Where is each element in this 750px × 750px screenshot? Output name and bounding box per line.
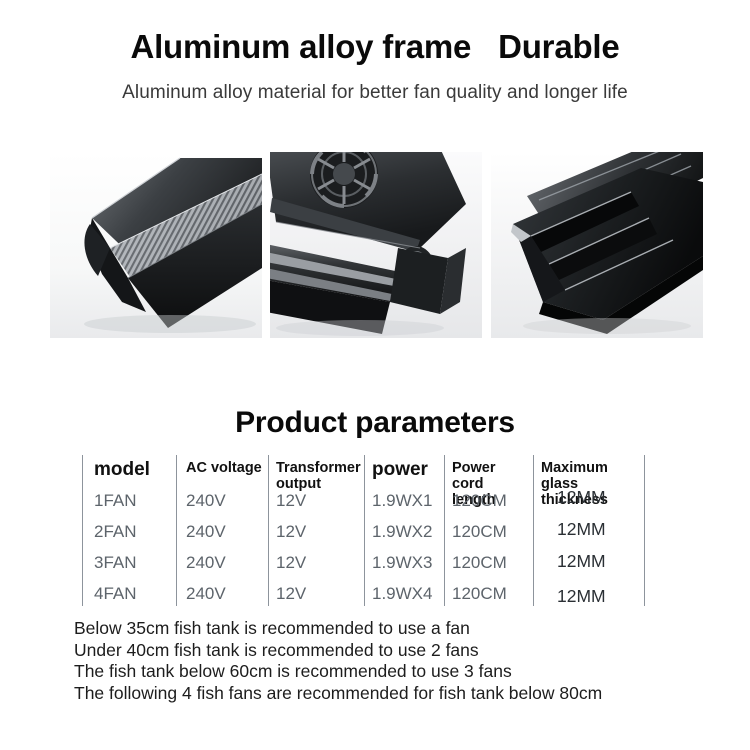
table-cell: 120CM: [452, 491, 534, 511]
table-rule: [444, 455, 445, 606]
table-cell: 120CM: [452, 553, 534, 573]
recommendation-line: Under 40cm fish tank is recommended to u…: [74, 640, 714, 662]
table-rule: [364, 455, 365, 606]
table-cell: 240V: [186, 553, 264, 573]
table-cell: 12V: [276, 522, 362, 542]
table-cell: 120CM: [452, 522, 534, 542]
product-infographic: Aluminum alloy frame Durable Aluminum al…: [0, 0, 750, 750]
table-rule: [268, 455, 269, 606]
table-cell: 240V: [186, 491, 264, 511]
table-cell: 1.9WX1: [372, 491, 444, 511]
table-cell: 120CM: [452, 584, 534, 604]
product-photo-fan-unit-on-frame: [270, 152, 482, 338]
product-photo-aluminum-profile-end: [491, 152, 703, 338]
column-header-ac-voltage: AC voltage: [186, 460, 264, 476]
table-cell: 1.9WX2: [372, 522, 444, 542]
product-photo-gallery: [50, 152, 703, 338]
table-cell: 4FAN: [94, 584, 174, 604]
table-column-ac-voltage: AC voltage 240V 240V 240V 240V: [186, 455, 264, 606]
table-column-power-cord-length: Power cord length 120CM 120CM 120CM 120C…: [452, 455, 534, 606]
table-cell: 12V: [276, 553, 362, 573]
table-cell: 12MM: [557, 519, 645, 540]
table-cell: 3FAN: [94, 553, 174, 573]
table-column-power: power 1.9WX1 1.9WX2 1.9WX3 1.9WX4: [372, 455, 444, 606]
table-cell: 12V: [276, 584, 362, 604]
page-title: Aluminum alloy frame Durable: [0, 28, 750, 66]
table-column-model: model 1FAN 2FAN 3FAN 4FAN: [94, 455, 174, 606]
table-cell: 240V: [186, 522, 264, 542]
table-cell: 240V: [186, 584, 264, 604]
table-cell: 2FAN: [94, 522, 174, 542]
table-cell: 1.9WX3: [372, 553, 444, 573]
table-cell: 1.9WX4: [372, 584, 444, 604]
table-column-maximum-glass-thickness: Maximum glass thickness 12MM 12MM 12MM 1…: [541, 455, 645, 606]
table-rule: [176, 455, 177, 606]
table-cell: 12MM: [557, 487, 645, 508]
product-parameters-table: model 1FAN 2FAN 3FAN 4FAN AC voltage 240…: [82, 455, 645, 606]
table-cell: 1FAN: [94, 491, 174, 511]
table-cell: 12MM: [557, 586, 645, 607]
column-header-model: model: [94, 459, 174, 480]
recommendation-line: The fish tank below 60cm is recommended …: [74, 661, 714, 683]
product-photo-aluminum-extrusion-bar: [50, 152, 262, 338]
table-rule: [82, 455, 83, 606]
table-column-transformer-output: Transformer output 12V 12V 12V 12V: [276, 455, 362, 606]
page-subtitle: Aluminum alloy material for better fan q…: [0, 82, 750, 104]
table-cell: 12MM: [557, 551, 645, 572]
recommendation-line: The following 4 fish fans are recommende…: [74, 683, 714, 705]
table-cell: 12V: [276, 491, 362, 511]
recommendation-line: Below 35cm fish tank is recommended to u…: [74, 618, 714, 640]
section-title-product-parameters: Product parameters: [0, 406, 750, 440]
usage-recommendations: Below 35cm fish tank is recommended to u…: [74, 618, 714, 704]
column-header-transformer-output: Transformer output: [276, 460, 356, 492]
column-header-power: power: [372, 459, 444, 480]
